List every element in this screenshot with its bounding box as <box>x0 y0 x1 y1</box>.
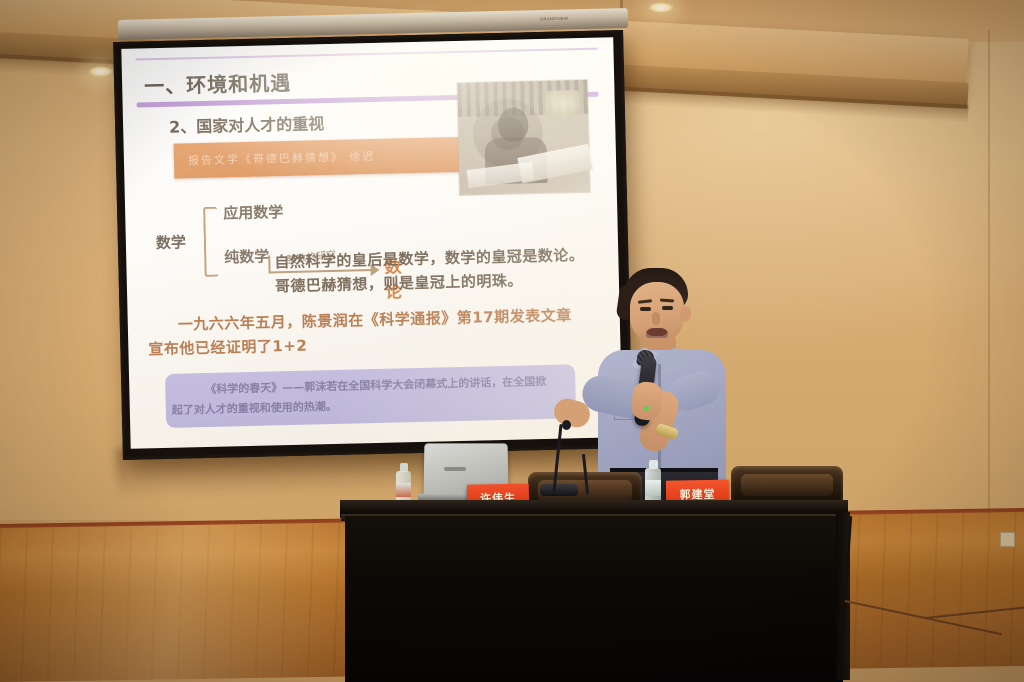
slide-quote-line-2: 哥德巴赫猜想，则是皇冠上的明珠。 <box>275 269 523 296</box>
presenter-eye <box>640 307 651 311</box>
photo-papers <box>467 162 535 188</box>
slide-callout-box: 《科学的春天》——郭沫若在全国科学大会闭幕式上的讲话，在全国掀 起了对人才的重视… <box>165 364 576 428</box>
presenter <box>588 268 738 498</box>
ceiling-light-icon <box>648 2 674 13</box>
photo-lamp <box>545 90 580 117</box>
slide-orange-banner: 报告文学《哥德巴赫猜想》 徐迟 <box>174 137 465 179</box>
bottle-label <box>645 480 661 496</box>
tree-branch-pure: 纯数学 <box>224 245 269 267</box>
slide-surface: 一、环境和机遇 2、国家对人才的重视 报告文学《哥德巴赫猜想》 徐迟 数学 应用… <box>121 37 622 448</box>
slide-body-line-1: 一九六六年五月，陈景润在《科学通报》第17期发表文章 <box>178 304 572 334</box>
title-rule-top <box>136 48 598 61</box>
slide-inset-photo <box>457 80 590 195</box>
slide-subtitle: 2、国家对人才的重视 <box>169 110 325 138</box>
projection-screen: 一、环境和机遇 2、国家对人才的重视 报告文学《哥德巴赫猜想》 徐迟 数学 应用… <box>113 30 633 460</box>
lecture-hall-scene: GRANDVIEW 一、环境和机遇 2、国家对人才的重视 报告文学《哥德巴赫猜想… <box>0 0 1024 682</box>
water-bottle-right <box>645 460 661 504</box>
wall-seam-right <box>988 30 990 520</box>
tree-root-label: 数学 <box>156 231 187 253</box>
water-bottle-left <box>396 463 411 503</box>
slide-title: 一、环境和机遇 <box>144 67 292 99</box>
tree-branch-applied: 应用数学 <box>223 201 283 223</box>
head-table-front-panel <box>345 516 843 682</box>
laptop-logo <box>444 467 466 471</box>
banner-text: 报告文学《哥德巴赫猜想》 徐迟 <box>188 148 376 168</box>
wall-outlet <box>1000 532 1015 547</box>
gooseneck-microphone-head-icon <box>562 420 571 430</box>
presenter-nose <box>652 312 660 325</box>
screen-brand-label: GRANDVIEW <box>540 16 568 22</box>
slide-body-line-2: 宣布他已经证明了1+2 <box>148 335 307 360</box>
chair-right-inner <box>741 474 833 496</box>
presenter-eye <box>662 306 673 310</box>
callout-line-1: 《科学的春天》——郭沫若在全国科学大会闭幕式上的讲话，在全国掀 <box>205 373 546 397</box>
ceiling-light-icon <box>88 66 114 77</box>
microphone-led-indicator <box>644 406 649 411</box>
bottle-label <box>396 483 411 497</box>
presenter-ear <box>680 306 691 322</box>
callout-line-2: 起了对人才的重视和使用的热潮。 <box>172 398 337 418</box>
microphone-base <box>540 484 578 496</box>
tree-brace <box>203 207 219 277</box>
